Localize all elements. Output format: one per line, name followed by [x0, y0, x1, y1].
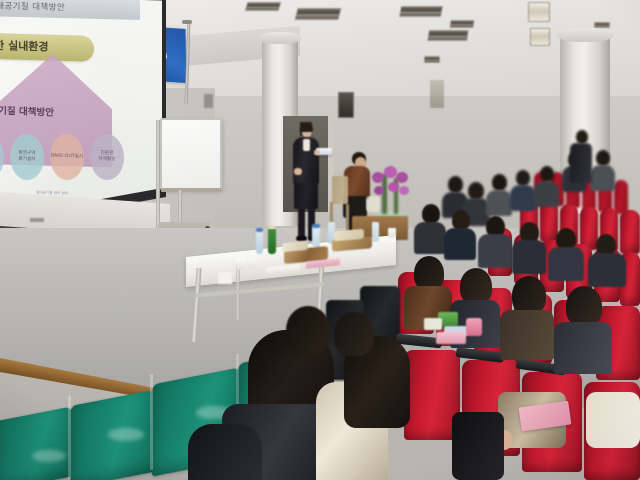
presenter-hand	[314, 150, 320, 155]
presenter-skirt	[294, 183, 318, 209]
auditorium-seat-red	[614, 180, 628, 214]
green-bottle	[268, 228, 276, 254]
projection-screen: 실내공기질 대책방안 적한 실내환경 실내공기질 대책방안 환기 개선 환연구역…	[0, 0, 162, 222]
recessed-fluorescent-light	[424, 56, 440, 63]
audience-head	[448, 176, 463, 193]
wall-vent	[430, 80, 444, 108]
foreground-attendee-shoulder	[452, 412, 504, 480]
recessed-fluorescent-light	[594, 22, 610, 28]
presenter-leg	[298, 208, 305, 238]
column-capital	[556, 28, 614, 42]
orchid-bloom	[396, 172, 408, 183]
recessed-fluorescent-light	[245, 2, 282, 11]
paper-cup	[248, 258, 257, 269]
orchid-bloom	[374, 186, 384, 195]
audience-torso	[534, 181, 559, 207]
presenter-blouse	[303, 139, 310, 151]
audience-head	[334, 312, 374, 356]
foreground-person-shoulder	[188, 424, 262, 480]
bottle-cap	[312, 224, 320, 228]
presenter-hand	[294, 168, 302, 175]
standing-attendee-head	[576, 130, 588, 144]
whiteboard	[160, 118, 222, 190]
slide-bubble-label: 환연구역 환기설치	[19, 151, 36, 163]
slide-bubble-label: 친환경 자재활용	[99, 151, 116, 163]
pink-handout	[436, 332, 466, 344]
orchid-bloom	[372, 172, 384, 183]
audience-torso	[414, 222, 446, 254]
presenter-hair-top	[300, 124, 313, 132]
whiteboard-marker-tray	[161, 188, 221, 192]
audience-torso	[486, 190, 512, 216]
flower-wrap	[366, 196, 380, 212]
recessed-fluorescent-light	[427, 30, 469, 41]
audience-hair	[414, 256, 444, 290]
slide-header-text: 실내공기질 대책방안	[0, 0, 140, 20]
slide-bubble-label: BAKE-OUT실시	[51, 154, 83, 161]
standing-attendee-body	[570, 143, 592, 183]
audience-head	[492, 174, 507, 191]
banner-pole-cap	[182, 20, 192, 24]
bottle-cap	[268, 226, 276, 229]
auditorium-seat-red	[620, 210, 640, 254]
column-capital	[258, 32, 302, 44]
wall-speaker	[338, 92, 354, 118]
audience-head	[540, 166, 554, 182]
audience-head	[422, 204, 440, 224]
audience-head	[596, 150, 610, 166]
audience-torso	[512, 240, 546, 274]
slide-title-pill: 적한 실내환경	[0, 32, 94, 62]
audience-hair	[512, 276, 546, 314]
bench-seat-green	[0, 406, 72, 480]
audience-torso	[500, 310, 554, 360]
audience-head	[516, 170, 530, 186]
seat-highlight	[108, 428, 144, 441]
seat-seam	[150, 374, 153, 471]
audience-torso	[588, 253, 626, 287]
wooden-chair-back	[332, 176, 348, 204]
audience-hair	[566, 286, 602, 326]
wall-fixture	[204, 94, 213, 108]
napkin-stack	[218, 272, 232, 284]
water-bottle	[256, 230, 263, 254]
bottle-cap	[256, 228, 263, 232]
audience-torso	[548, 247, 584, 281]
seat-seam	[68, 396, 71, 480]
slide-subtitle: 실내공기질 대책방안	[0, 104, 100, 120]
audience-head	[286, 306, 330, 354]
audience-hair	[460, 268, 492, 304]
recessed-fluorescent-light	[399, 6, 443, 17]
auditorium-presentation-photo: 발표회 발표회 ◇◇대학교 환경공학과 실내공기질 대책방안 적한 실내환경 실…	[0, 0, 640, 480]
audience-torso	[590, 165, 615, 191]
paper-cup	[236, 258, 246, 270]
fleece-garment	[586, 392, 640, 448]
pink-pouch	[466, 318, 482, 336]
audience-torso	[444, 228, 476, 260]
water-bottle	[372, 222, 379, 242]
slide-bubble: 환연구역 환기설치	[10, 134, 44, 181]
recessed-fluorescent-light	[528, 2, 550, 22]
napkin	[424, 318, 442, 330]
slide-header-bar: 실내공기질 대책방안	[0, 0, 140, 20]
wall-marking	[30, 218, 44, 222]
paper-cup	[388, 228, 396, 238]
slide-subtitle-text: 실내공기질 대책방안	[0, 102, 100, 120]
audience-torso	[478, 234, 512, 268]
recessed-fluorescent-light	[450, 20, 475, 28]
recessed-fluorescent-light	[295, 8, 342, 20]
orchid-bloom	[388, 182, 399, 192]
audience-torso	[554, 322, 612, 374]
slide-title-text: 적한 실내환경	[0, 32, 94, 62]
slide-bubble: BAKE-OUT실시	[50, 134, 84, 181]
orchid-bloom	[399, 186, 409, 195]
audience-torso	[510, 185, 536, 211]
slide-bubble: 친환경 자재활용	[90, 134, 124, 181]
recessed-fluorescent-light	[530, 28, 550, 46]
whiteboard-leg	[156, 120, 160, 232]
seat-highlight	[32, 450, 66, 462]
